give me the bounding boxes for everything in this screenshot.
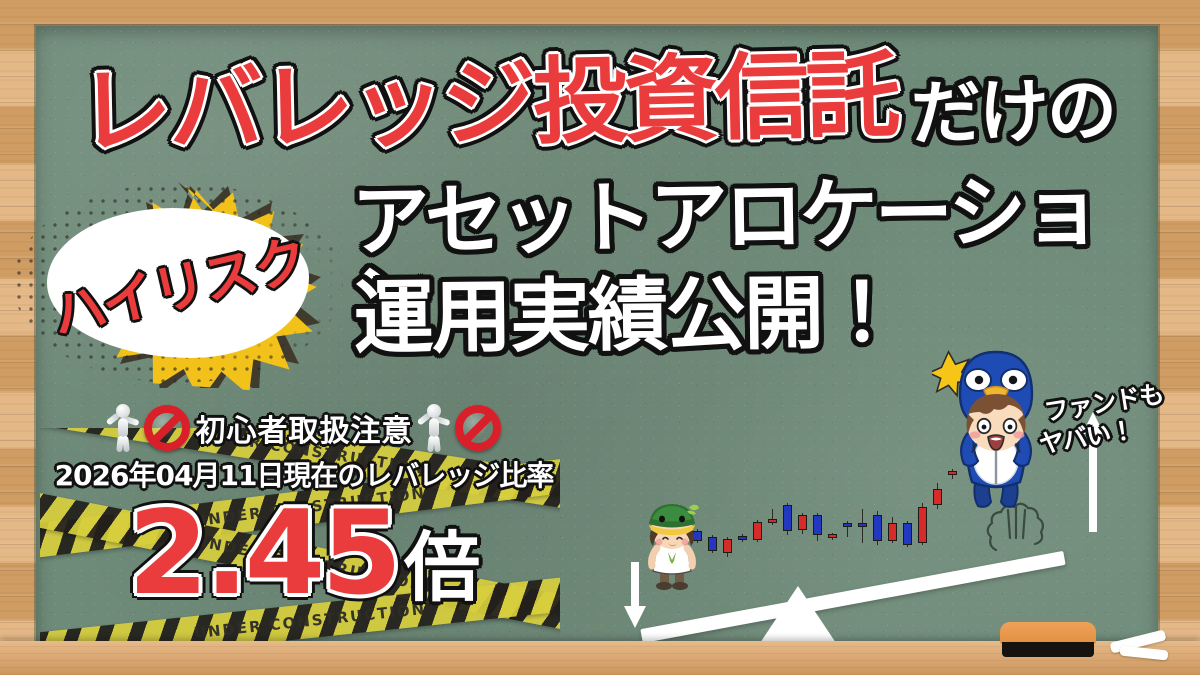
leverage-ratio-unit: 倍 xyxy=(404,530,480,606)
high-risk-burst-badge: ハイリスク xyxy=(8,178,348,388)
beginner-warning-row: 初心者取扱注意 xyxy=(44,404,564,452)
mannequin-figure-left xyxy=(108,404,138,452)
blackboard-eraser xyxy=(1000,622,1096,658)
leverage-ratio-value: 2.45 xyxy=(128,496,398,612)
headline-line-3: 運用実績公開！ xyxy=(354,273,901,359)
no-entry-icon xyxy=(455,405,501,451)
beginner-warning-label: 初心者取扱注意 xyxy=(196,406,413,450)
headline-suffix-dakeno: だけの xyxy=(910,75,1115,149)
headline-emphasis-leverage: レバレッジ投資信託 xyxy=(77,49,898,160)
mannequin-figure-right xyxy=(419,404,449,452)
no-entry-icon xyxy=(144,405,190,451)
leverage-info-block: 初心者取扱注意 2026年04月11日現在のレバレッジ比率 2.45 倍 xyxy=(44,404,564,612)
headline-line-1: レバレッジ投資信託 だけの xyxy=(78,58,1115,152)
character-duck-hat xyxy=(636,494,708,590)
character-penguin-kigurumi xyxy=(932,338,1060,514)
leverage-ratio-row: 2.45 倍 xyxy=(44,496,564,612)
poster-canvas: UNDER CONSTRUCTION UNDER CONSTRUCTION UN… xyxy=(0,0,1200,675)
